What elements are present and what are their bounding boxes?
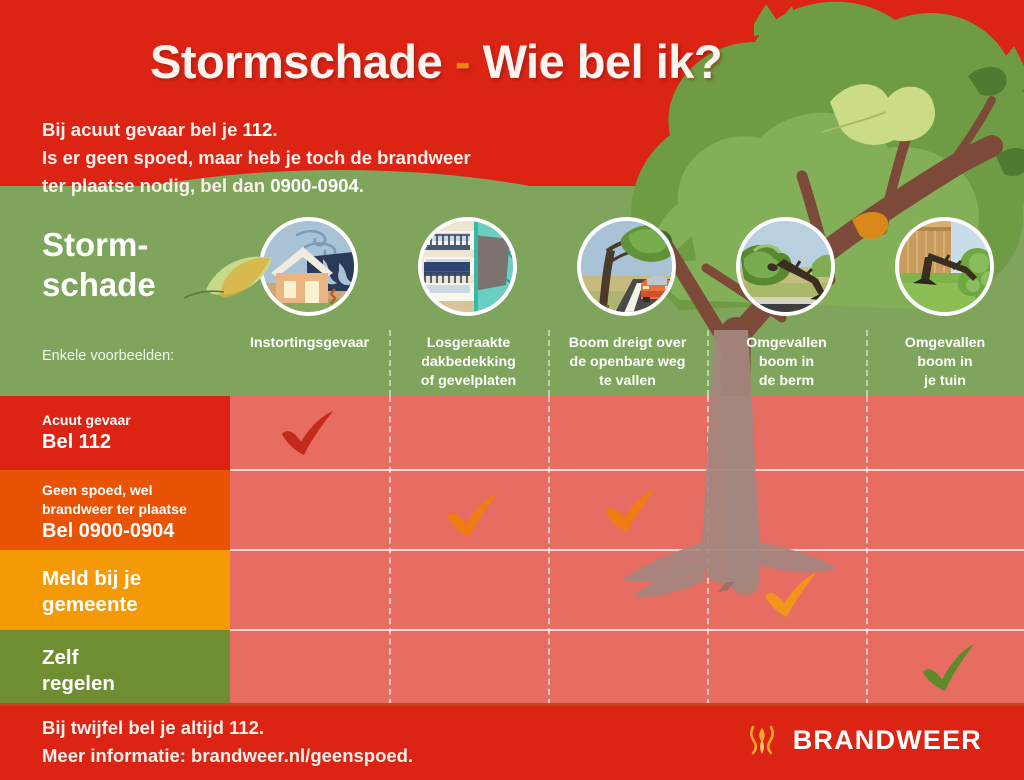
emergency-number-112: 112 [243,119,273,140]
column-header-instortingsgevaar: Instortingsgevaar [230,334,389,353]
row-sublabel: Acuut gevaar [42,411,131,430]
column-header-boom-berm: Omgevallen boom in de berm [707,334,866,391]
intro-text: Bij acuut gevaar bel je 112. Is er geen … [42,116,471,200]
column-separator [548,396,550,705]
decorative-leaf-pair-icon [180,236,310,306]
page-title-line1: Storm- [42,226,148,263]
main-title-dash: - [455,35,470,88]
checkmark-red-acuut-instortingsgevaar [277,408,339,460]
checkmark-green-zelfregelen-boom-tuin [918,642,980,694]
page-title: Storm- schade [42,225,156,305]
row-mainlabel: Bel 0900-0904 [42,519,187,544]
column-header-label: Losgeraakte dakbedekking of gevelplaten [421,335,516,389]
intro-line-2: Is er geen spoed, maar heb je toch de br… [42,144,471,172]
column-separator [707,396,709,705]
column-separator [389,396,391,705]
row-label-zelf-regelen: Zelf regelen [42,645,115,697]
brandweer-flame-shield-icon [741,719,783,761]
row-label-geen-spoed: Geen spoed, wel brandweer ter plaatse Be… [42,481,187,544]
row-separator [230,629,1024,631]
intro-line-1-period: . [272,119,277,140]
column-header-boom-openbare-weg: Boom dreigt over de openbare weg te vall… [548,334,707,391]
row-mainlabel: Zelf regelen [42,645,115,697]
intro-line-3-text: ter plaatse nodig, bel dan [42,175,270,196]
row-mainlabel: Bel 112 [42,430,131,455]
row-separator [230,549,1024,551]
infographic-poster: Storm- schade Enkele voorbeelden: [0,0,1024,780]
column-header-label: Omgevallen boom in je tuin [905,335,985,389]
row-label-meld-gemeente: Meld bij je gemeente [42,566,141,618]
brandweer-wordmark: BRANDWEER [793,725,982,756]
column-header-label: Boom dreigt over de openbare weg te vall… [569,335,686,389]
column-header-label: Instortingsgevaar [250,335,369,351]
footer-line-2[interactable]: Meer informatie: brandweer.nl/geenspoed. [42,742,413,770]
intro-line-3: ter plaatse nodig, bel dan 0900-0904. [42,172,471,200]
intro-line-3-period: . [359,175,364,196]
leaning-tree-over-road-icon [577,217,676,316]
footer-divider [0,703,1024,706]
checkmark-orange-geenspoed-openbare-weg [600,485,662,537]
footer-text: Bij twijfel bel je altijd 112. Meer info… [42,714,413,770]
brandweer-logo: BRANDWEER [741,719,982,761]
matrix-grid [230,396,1024,705]
intro-line-1: Bij acuut gevaar bel je 112. [42,116,471,144]
examples-label: Enkele voorbeelden: [42,348,174,364]
column-header-boom-tuin: Omgevallen boom in je tuin [866,334,1024,391]
main-title-part1: Stormschade [150,35,442,88]
column-separator [866,396,868,705]
row-separator [230,469,1024,471]
fallen-tree-verge-icon [736,217,835,316]
page-title-line2: schade [42,266,156,303]
column-header-label: Omgevallen boom in de berm [746,335,826,389]
footer-line-1: Bij twijfel bel je altijd 112. [42,714,413,742]
main-title-part2: Wie bel ik? [483,35,723,88]
checkmark-orange-geenspoed-dakbedekking [442,490,504,542]
row-mainlabel: Meld bij je gemeente [42,566,141,618]
column-header-dakbedekking: Losgeraakte dakbedekking of gevelplaten [389,334,548,391]
fallen-tree-garden-icon [895,217,994,316]
row-sublabel: Geen spoed, wel brandweer ter plaatse [42,481,187,519]
row-band-zelf-regelen [0,630,230,705]
damaged-facade-building-icon [418,217,517,316]
row-label-acuut-gevaar: Acuut gevaar Bel 112 [42,411,131,455]
non-emergency-number-0900: 0900-0904 [270,175,358,196]
intro-line-1-text: Bij acuut gevaar bel je [42,119,243,140]
main-title: Stormschade - Wie bel ik? [150,34,722,89]
checkmark-orange-gemeente-boom-berm [760,570,822,622]
